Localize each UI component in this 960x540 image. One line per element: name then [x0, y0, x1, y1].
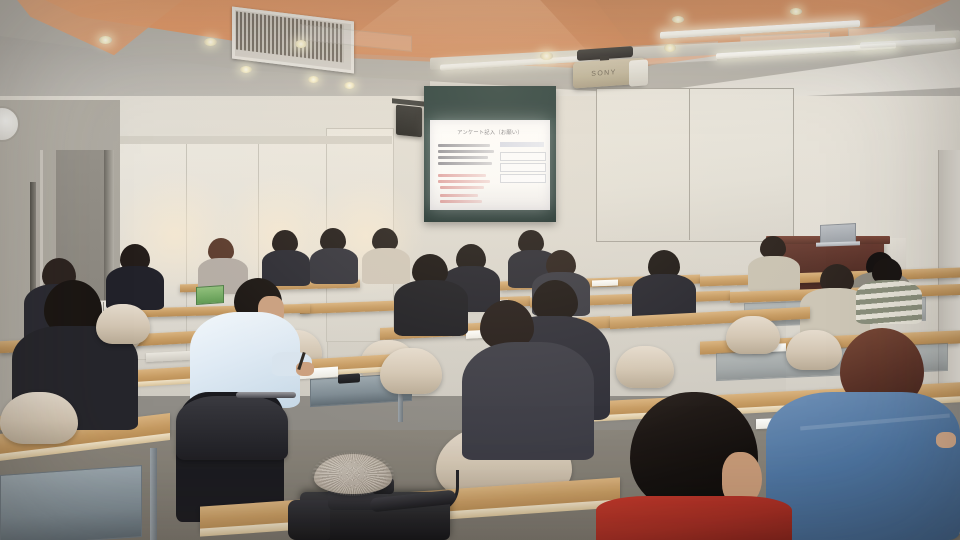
chair[interactable] — [96, 304, 150, 344]
slide-form-box — [500, 152, 546, 161]
downlight-icon — [790, 8, 802, 15]
downlight-icon — [344, 82, 355, 89]
seminar-room-photo: SONY アンケート記入（お願い） — [0, 0, 960, 540]
downlight-icon — [308, 76, 319, 83]
smartphone[interactable] — [338, 373, 360, 384]
chair[interactable] — [380, 348, 442, 394]
tablet-device[interactable] — [196, 285, 224, 305]
questionnaire-paper — [592, 280, 618, 287]
slide-form-header — [500, 142, 544, 147]
downlight-icon — [664, 44, 676, 52]
whiteboard-seam — [689, 88, 690, 240]
slide-red-line — [440, 200, 482, 203]
projection-screen-surface: アンケート記入（お願い） — [430, 120, 550, 210]
hand — [936, 432, 956, 448]
whiteboard-panel — [596, 88, 794, 242]
microphone-windscreen-fur — [312, 452, 394, 496]
chair[interactable] — [176, 396, 288, 460]
chair[interactable] — [0, 392, 78, 444]
slide-title: アンケート記入（お願い） — [430, 129, 550, 136]
slide-form-box — [500, 174, 546, 183]
slide-red-line — [438, 174, 486, 177]
chair-frame — [236, 392, 296, 398]
chair[interactable] — [616, 346, 674, 388]
camera-lens-icon — [288, 500, 330, 540]
slide-body-line — [438, 162, 492, 165]
downlight-icon — [240, 66, 252, 73]
slide-body-line — [438, 150, 494, 153]
downlight-icon — [295, 40, 307, 48]
presentation-slide: アンケート記入（お願い） — [430, 120, 550, 210]
downlight-icon — [99, 36, 112, 44]
slide-red-line — [440, 194, 478, 197]
slide-body-line — [438, 144, 490, 147]
chair[interactable] — [786, 330, 842, 370]
downlight-icon — [672, 16, 684, 23]
projection-screen-valance — [424, 86, 556, 118]
slide-red-line — [440, 186, 484, 189]
wall-speaker-icon — [396, 105, 422, 138]
chair[interactable] — [726, 316, 780, 354]
desk-leg — [150, 448, 157, 540]
desk-modesty-panel — [0, 465, 142, 540]
downlight-icon — [204, 38, 217, 46]
downlight-icon — [540, 52, 553, 60]
slide-red-line — [438, 180, 490, 183]
partition-track — [112, 136, 392, 144]
slide-form-box — [500, 163, 546, 172]
projector-lens-icon — [629, 59, 648, 86]
slide-body-line — [438, 156, 488, 159]
